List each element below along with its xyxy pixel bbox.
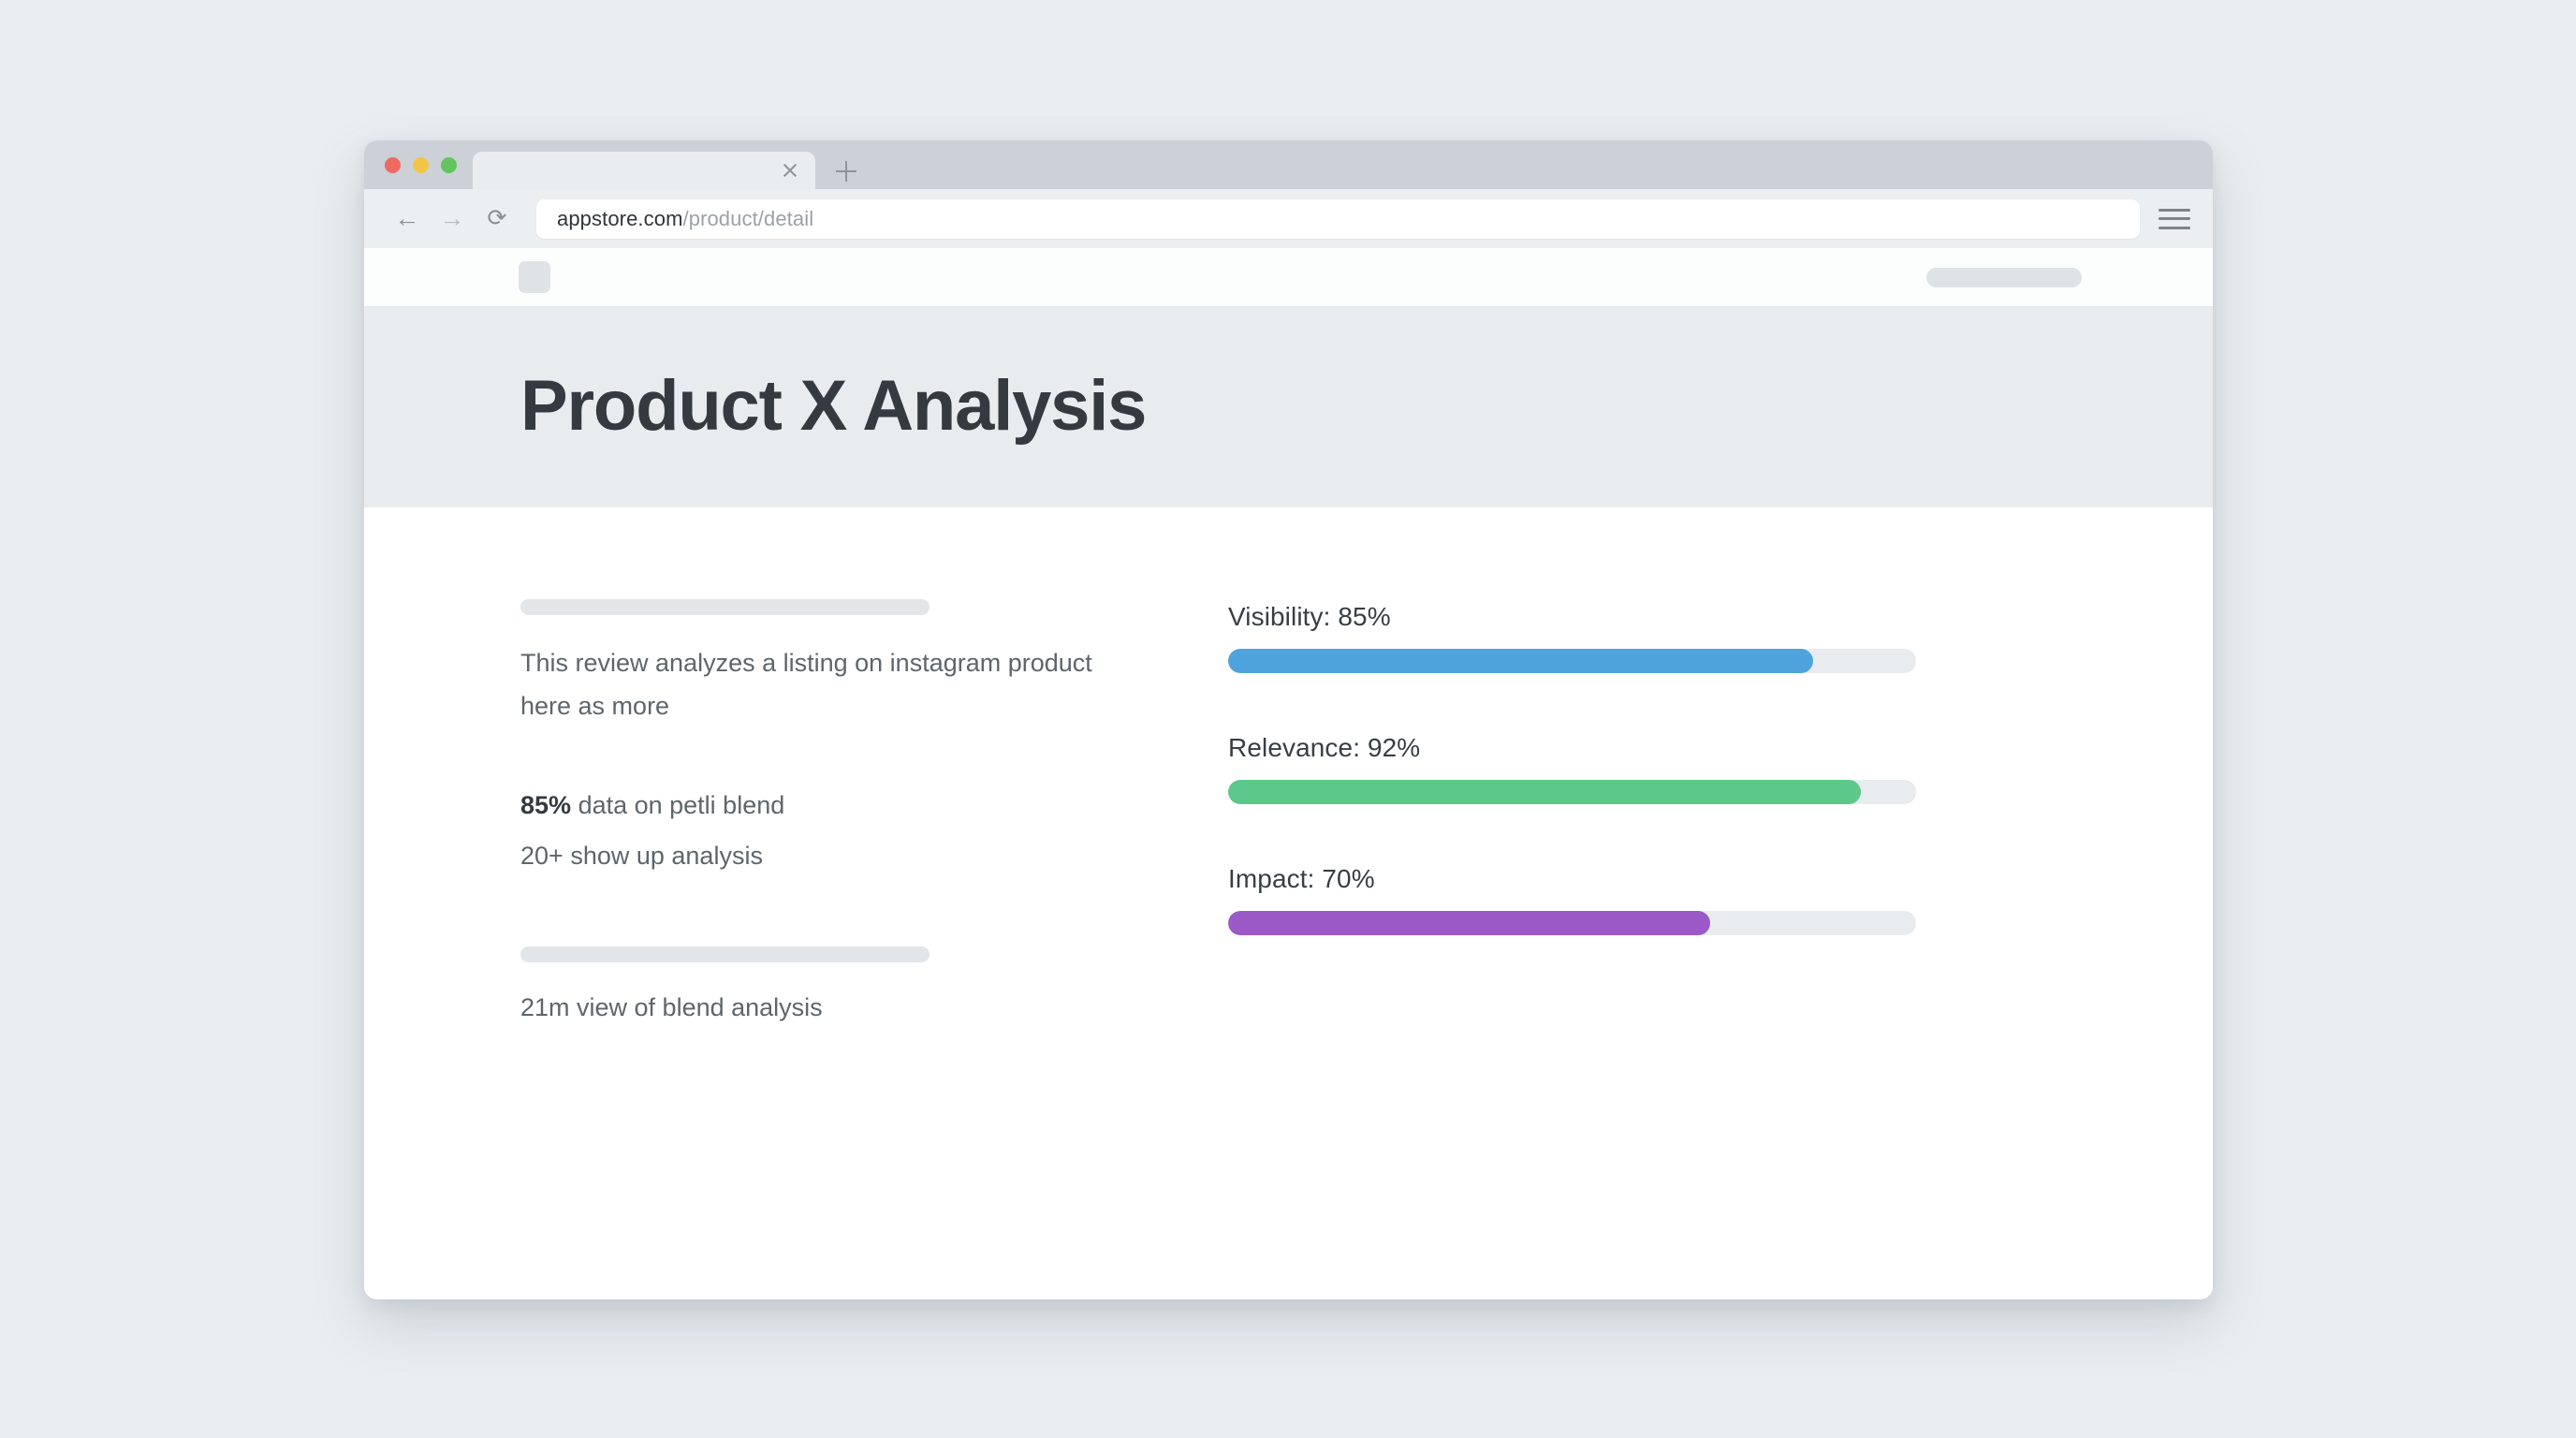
description-column: This review analyzes a listing on instag…	[520, 599, 1138, 1299]
window-controls	[385, 157, 457, 173]
progress-track	[1228, 911, 1916, 935]
description-paragraph: This review analyzes a listing on instag…	[520, 641, 1138, 727]
browser-toolbar: ← → ⟳ appstore.com/product/detail	[364, 189, 2213, 248]
menu-line	[2159, 217, 2190, 220]
minimize-window-button[interactable]	[413, 157, 429, 173]
back-icon[interactable]: ←	[388, 200, 426, 238]
menu-line	[2159, 209, 2190, 212]
stat-text: show up analysis	[570, 842, 763, 870]
new-tab-icon[interactable]	[832, 157, 860, 185]
forward-icon[interactable]: →	[433, 200, 471, 238]
browser-tab[interactable]	[473, 152, 815, 189]
closing-text: 21m view of blend analysis	[520, 987, 1138, 1028]
progress-fill-visibility	[1228, 649, 1813, 673]
page-viewport: Product X Analysis This review analyzes …	[364, 248, 2213, 1299]
progress-track	[1228, 649, 1916, 673]
metric-label: Relevance: 92%	[1228, 733, 2054, 763]
progress-fill-relevance	[1228, 780, 1861, 804]
stat-text: data on petli blend	[578, 791, 785, 819]
skeleton-heading-placeholder-2	[520, 946, 929, 962]
hamburger-menu-icon[interactable]	[2159, 207, 2190, 231]
metric-impact: Impact: 70%	[1228, 864, 2054, 935]
close-window-button[interactable]	[385, 157, 401, 173]
browser-tab-strip	[364, 140, 2213, 189]
stat-value: 85%	[520, 791, 571, 819]
stat-item: 20+ show up analysis	[520, 830, 1138, 881]
site-navbar	[364, 248, 2213, 307]
metric-relevance: Relevance: 92%	[1228, 733, 2054, 804]
metric-label: Impact: 70%	[1228, 864, 2054, 894]
navbar-action-placeholder[interactable]	[1926, 268, 2082, 287]
metrics-column: Visibility: 85% Relevance: 92% Impact: 7…	[1228, 599, 2054, 1299]
url-path: /product/detail	[683, 207, 814, 231]
progress-track	[1228, 780, 1916, 804]
page-title: Product X Analysis	[520, 367, 2213, 446]
reload-icon[interactable]: ⟳	[478, 200, 516, 238]
hero-section: Product X Analysis	[364, 307, 2213, 507]
maximize-window-button[interactable]	[441, 157, 457, 173]
main-content: This review analyzes a listing on instag…	[364, 507, 2213, 1299]
browser-window: ← → ⟳ appstore.com/product/detail Produc…	[364, 140, 2213, 1299]
stat-value: 20+	[520, 842, 563, 870]
url-host: appstore.com	[557, 207, 683, 231]
metric-visibility: Visibility: 85%	[1228, 602, 2054, 673]
menu-line	[2159, 227, 2190, 229]
stats-list: 85% data on petli blend 20+ show up anal…	[520, 780, 1138, 881]
site-logo-placeholder[interactable]	[519, 261, 550, 293]
close-tab-icon[interactable]	[780, 160, 800, 181]
address-bar[interactable]: appstore.com/product/detail	[536, 199, 2140, 239]
stat-item: 85% data on petli blend	[520, 780, 1138, 830]
progress-fill-impact	[1228, 911, 1710, 935]
skeleton-heading-placeholder	[520, 599, 929, 615]
metric-label: Visibility: 85%	[1228, 602, 2054, 632]
